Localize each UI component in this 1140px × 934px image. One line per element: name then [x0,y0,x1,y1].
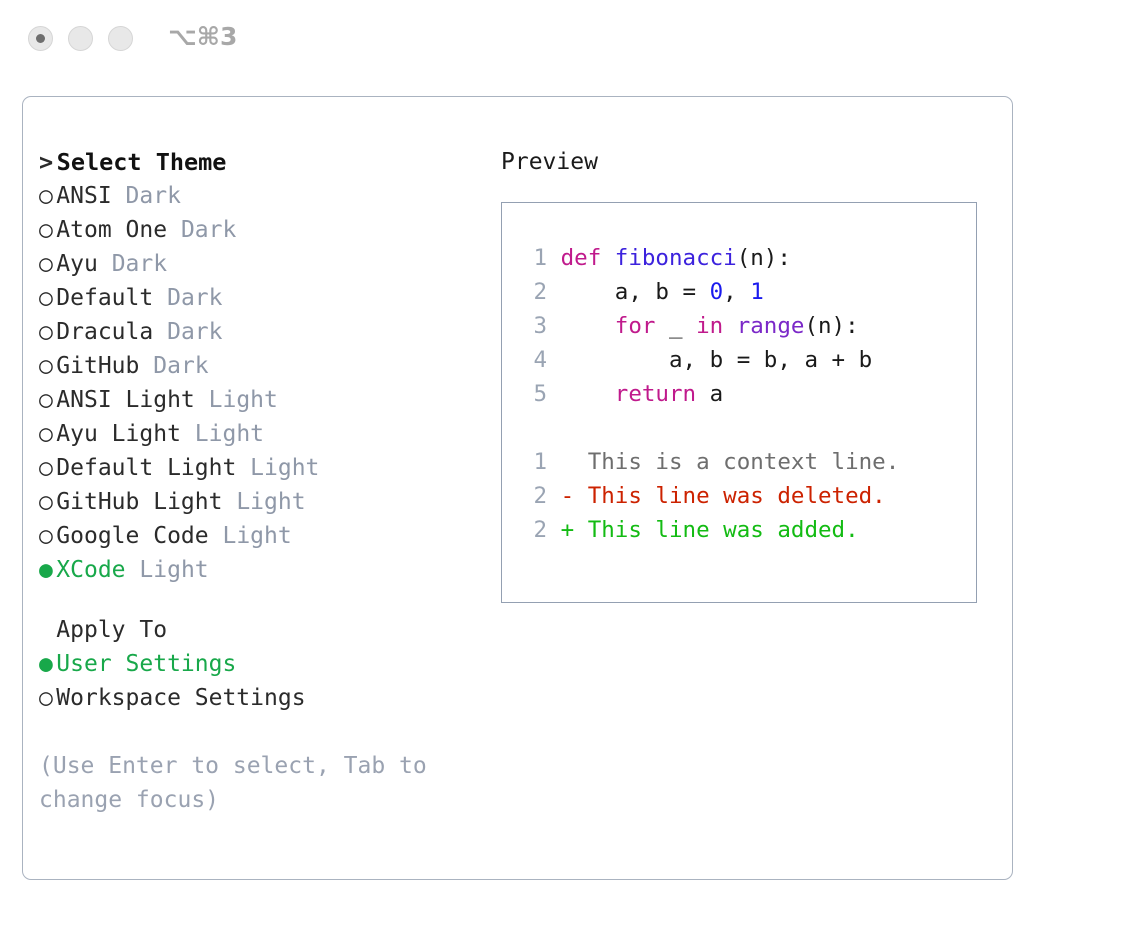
code-token-plain [561,381,615,407]
code-token-plain: a, b = [561,279,710,305]
apply-to-heading: Apply To [39,613,489,647]
prompt-caret-icon: > [39,145,57,179]
line-number: 2 [520,275,547,309]
theme-list-item[interactable]: ○Atom One Dark [39,213,489,247]
theme-variant: Light [250,455,319,481]
theme-name: XCode [56,557,125,583]
radio-selected-icon: ● [39,553,56,587]
radio-icon: ○ [39,681,56,715]
theme-variant: Dark [126,183,181,209]
preview-heading: Preview [501,145,1001,179]
theme-variant: Dark [167,285,222,311]
line-number: 1 [520,445,547,479]
code-line: 5 return a [520,377,976,411]
theme-list-item[interactable]: ○Google Code Light [39,519,489,553]
theme-variant: Light [222,523,291,549]
line-number: 5 [520,377,547,411]
code-line: 3 for _ in range(n): [520,309,976,343]
line-number: 4 [520,343,547,377]
code-token-keyword: in [696,313,723,339]
preview-gap [520,411,976,445]
apply-to-label: Workspace Settings [56,685,305,711]
theme-list-item[interactable]: ○Default Dark [39,281,489,315]
apply-to-label: User Settings [56,651,236,677]
theme-name: Dracula [56,319,153,345]
traffic-lights [28,26,133,51]
theme-list-item[interactable]: ○ANSI Dark [39,179,489,213]
apply-to-heading-label: Apply To [56,617,167,643]
record-dot-icon [36,34,45,43]
diff-text: This is a context line. [588,449,900,475]
theme-name: Default [56,285,153,311]
theme-variant: Light [139,557,208,583]
theme-list-item[interactable]: ○GitHub Light Light [39,485,489,519]
theme-name: Default Light [56,455,236,481]
theme-list-item[interactable]: ○Ayu Light Light [39,417,489,451]
code-token-plain [723,313,737,339]
radio-icon: ○ [39,315,56,349]
section-spacer [39,587,489,613]
theme-variant: Light [195,421,264,447]
record-button[interactable] [28,26,53,51]
select-theme-heading: >Select Theme [39,145,489,179]
radio-icon: ○ [39,383,56,417]
theme-name: Ayu Light [56,421,181,447]
theme-name: ANSI [56,183,111,209]
code-token-plain: a [696,381,723,407]
code-line: 4 a, b = b, a + b [520,343,976,377]
theme-name: ANSI Light [56,387,194,413]
theme-list-item[interactable]: ○Dracula Dark [39,315,489,349]
theme-variant: Light [209,387,278,413]
radio-icon: ○ [39,281,56,315]
radio-icon: ○ [39,179,56,213]
theme-name: Google Code [56,523,208,549]
apply-to-item-selected[interactable]: ●User Settings [39,647,489,681]
diff-line-deleted: 2- This line was deleted. [520,479,976,513]
window-button-3[interactable] [108,26,133,51]
line-number: 1 [520,241,547,275]
code-line: 2 a, b = 0, 1 [520,275,976,309]
theme-variant: Dark [112,251,167,277]
diff-line-added: 2+ This line was added. [520,513,976,547]
select-theme-heading-label: Select Theme [57,148,227,176]
code-token-plain: _ [655,313,696,339]
theme-list-item-selected[interactable]: ●XCode Light [39,553,489,587]
diff-marker-plus: + [561,517,588,543]
theme-list-item[interactable]: ○Default Light Light [39,451,489,485]
radio-icon: ○ [39,349,56,383]
code-token-plain: (n): [804,313,858,339]
keyboard-hint-text: (Use Enter to select, Tab to change focu… [39,749,459,817]
theme-list-item[interactable]: ○ANSI Light Light [39,383,489,417]
code-token-plain: , [723,279,750,305]
code-token-plain [561,313,615,339]
radio-icon: ○ [39,417,56,451]
apply-to-item[interactable]: ○Workspace Settings [39,681,489,715]
line-number: 2 [520,479,547,513]
theme-name: Ayu [56,251,98,277]
theme-variant: Dark [167,319,222,345]
preview-box: 1def fibonacci(n): 2 a, b = 0, 1 3 for _… [501,202,977,603]
code-line: 1def fibonacci(n): [520,241,976,275]
theme-variant: Dark [153,353,208,379]
diff-text: This line was deleted. [588,483,886,509]
window-titlebar: ⌥⌘3 [0,0,1140,78]
diff-text: This line was added. [588,517,859,543]
window-button-2[interactable] [68,26,93,51]
indent-spacer [39,613,56,647]
preview-column: Preview 1def fibonacci(n): 2 a, b = 0, 1… [501,145,1001,603]
section-spacer [39,715,489,749]
radio-icon: ○ [39,485,56,519]
theme-name: Atom One [56,217,167,243]
radio-icon: ○ [39,247,56,281]
theme-variant: Dark [181,217,236,243]
code-token-plain: a, b = b, a + b [561,347,873,373]
radio-icon: ○ [39,451,56,485]
code-token-keyword: for [615,313,656,339]
theme-list-item[interactable]: ○GitHub Dark [39,349,489,383]
radio-icon: ○ [39,213,56,247]
diff-line-context: 1 This is a context line. [520,445,976,479]
code-token-keyword: return [615,381,696,407]
app-window: ⌥⌘3 >Select Theme ○ANSI Dark ○Atom One D… [0,0,1140,934]
theme-list-column: >Select Theme ○ANSI Dark ○Atom One Dark … [39,145,489,817]
diff-marker-minus: - [561,483,588,509]
theme-variant: Light [236,489,305,515]
code-token-builtin: range [737,313,805,339]
line-number: 3 [520,309,547,343]
theme-name: GitHub [56,353,139,379]
theme-name: GitHub Light [56,489,222,515]
diff-marker [561,449,588,475]
theme-list-item[interactable]: ○Ayu Dark [39,247,489,281]
code-token-function: fibonacci [615,245,737,271]
keyboard-shortcut-label: ⌥⌘3 [168,22,237,51]
radio-selected-icon: ● [39,647,56,681]
theme-selector-panel: >Select Theme ○ANSI Dark ○Atom One Dark … [22,96,1013,880]
code-token-number: 1 [750,279,764,305]
code-token-number: 0 [710,279,724,305]
code-token-keyword: def [561,245,615,271]
line-number: 2 [520,513,547,547]
radio-icon: ○ [39,519,56,553]
code-token-plain: (n): [737,245,791,271]
